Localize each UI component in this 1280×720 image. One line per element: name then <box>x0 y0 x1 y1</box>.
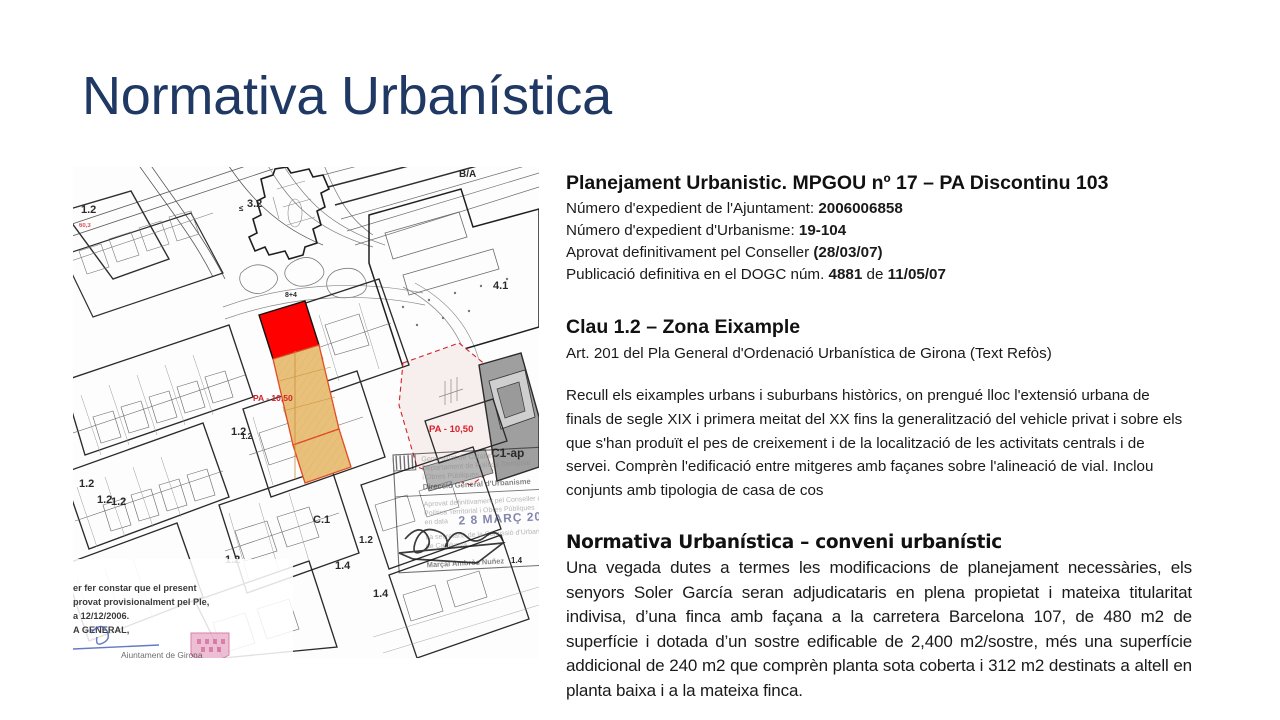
section-clau: Clau 1.2 – Zona Eixample Art. 201 del Pl… <box>566 315 1194 502</box>
planejament-row: Número d'expedient d'Urbanisme: 19-104 <box>566 220 1194 242</box>
svg-text:er fer constar que el present: er fer constar que el present <box>73 583 197 593</box>
svg-text:1.4: 1.4 <box>335 560 351 572</box>
row-value: (28/03/07) <box>813 244 882 261</box>
clau-body: Recull els eixamples urbans i suburbans … <box>566 384 1188 502</box>
svg-text:≤: ≤ <box>239 204 244 213</box>
row-value: 19-104 <box>799 222 846 239</box>
row-value: 2006006858 <box>818 200 902 217</box>
svg-text:1.2: 1.2 <box>241 432 253 441</box>
svg-text:provat provisionalment pel Ple: provat provisionalment pel Ple, <box>73 597 209 607</box>
svg-text:8+4: 8+4 <box>285 292 297 299</box>
section-conveni: Normativa Urbanística – conveni urbaníst… <box>566 532 1194 703</box>
content-text-column: Planejament Urbanistic. MPGOU nº 17 – PA… <box>566 171 1194 703</box>
svg-text:4.1: 4.1 <box>493 280 508 292</box>
section-planejament: Planejament Urbanistic. MPGOU nº 17 – PA… <box>566 171 1194 285</box>
svg-text:B/A: B/A <box>459 169 476 180</box>
svg-text:PA - 10,50: PA - 10,50 <box>253 393 293 403</box>
row-label: Aprovat definitivament pel Conseller <box>566 244 813 261</box>
svg-text:en data: en data <box>424 518 448 526</box>
row-value: 4881 <box>829 266 863 283</box>
map-svg: 1.2 60,3 3.2 ≤ <box>73 167 539 658</box>
svg-text:C.1: C.1 <box>313 514 330 526</box>
conveni-heading: Normativa Urbanística – conveni urbaníst… <box>566 532 1194 554</box>
svg-text:1.2: 1.2 <box>111 496 126 508</box>
row-mid: de <box>862 266 887 283</box>
svg-text:1.2: 1.2 <box>359 535 373 546</box>
row-label: Publicació definitiva en el DOGC núm. <box>566 266 829 283</box>
svg-text:1.2: 1.2 <box>79 478 94 490</box>
clau-heading: Clau 1.2 – Zona Eixample <box>566 315 1194 339</box>
cadastral-map-image: 1.2 60,3 3.2 ≤ <box>73 167 539 658</box>
svg-text:1.4: 1.4 <box>511 556 523 565</box>
conveni-body: Una vegada dutes a termes les modificaci… <box>566 556 1192 703</box>
svg-text:Ajuntament de Girona: Ajuntament de Girona <box>121 650 203 658</box>
planejament-row: Número d'expedient de l'Ajuntament: 2006… <box>566 198 1194 220</box>
row-label: Número d'expedient d'Urbanisme: <box>566 222 799 239</box>
clau-subheading: Art. 201 del Pla General d'Ordenació Urb… <box>566 343 1194 365</box>
svg-text:a 12/12/2006.: a 12/12/2006. <box>73 611 129 621</box>
svg-text:1.4: 1.4 <box>373 588 389 600</box>
svg-text:1.2: 1.2 <box>97 494 112 506</box>
svg-text:60,3: 60,3 <box>79 223 91 229</box>
planejament-heading: Planejament Urbanistic. MPGOU nº 17 – PA… <box>566 171 1194 195</box>
svg-text:1.2: 1.2 <box>81 204 96 216</box>
row-value-2: 11/05/07 <box>888 266 946 283</box>
row-label: Número d'expedient de l'Ajuntament: <box>566 200 818 217</box>
svg-text:3.2: 3.2 <box>247 198 262 210</box>
page-title: Normativa Urbanística <box>82 68 612 125</box>
svg-text:PA - 10,50: PA - 10,50 <box>429 424 473 435</box>
planejament-row: Aprovat definitivament pel Conseller (28… <box>566 242 1194 264</box>
planejament-row: Publicació definitiva en el DOGC núm. 48… <box>566 264 1194 286</box>
